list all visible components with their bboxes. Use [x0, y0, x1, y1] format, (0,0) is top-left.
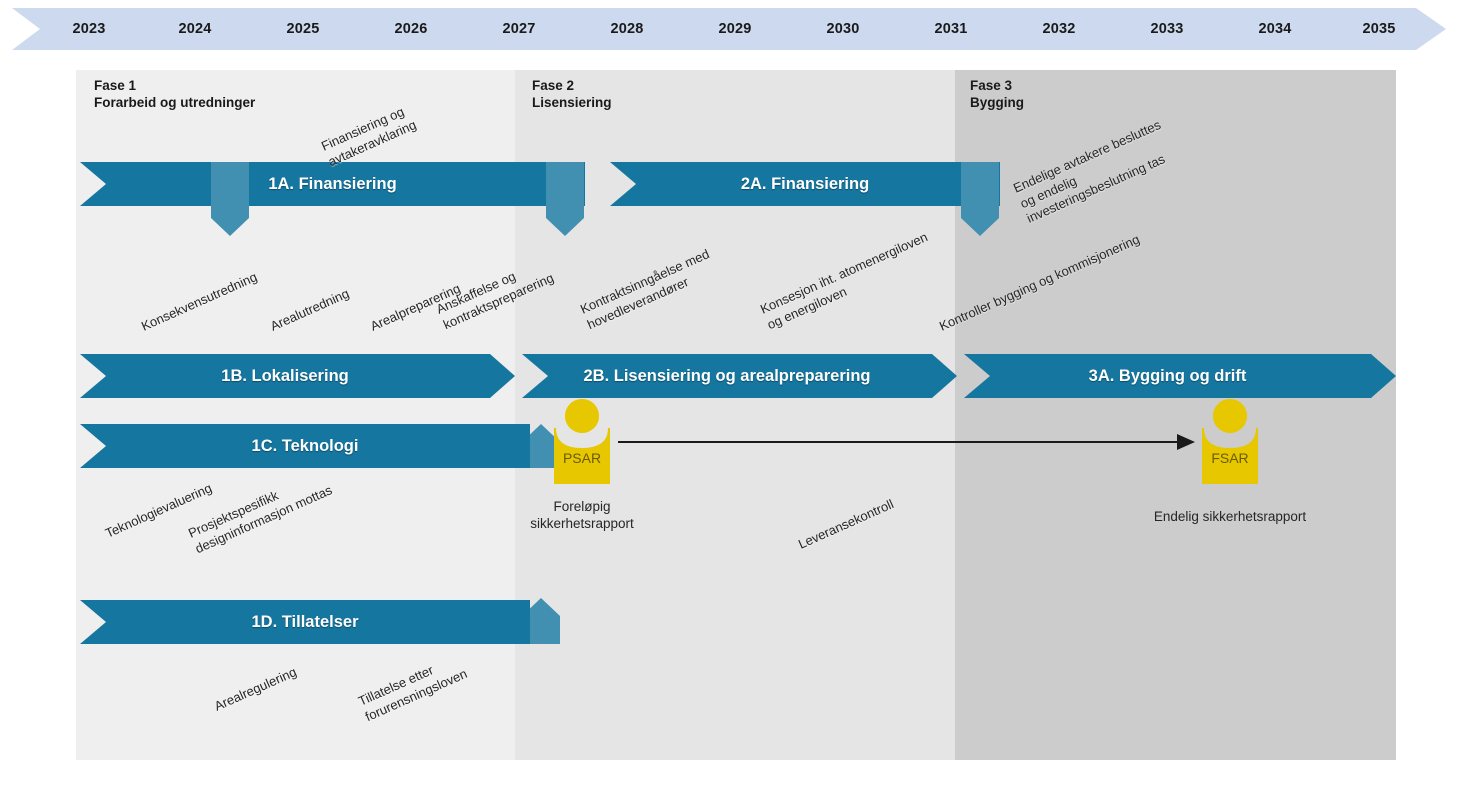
phase-3-line1: Fase 3: [970, 77, 1024, 94]
phase-title-3: Fase 3 Bygging: [970, 77, 1024, 111]
bar-3a-bygging[interactable]: 3A. Bygging og drift: [964, 354, 1396, 398]
phase-title-2: Fase 2 Lisensiering: [532, 77, 612, 111]
phase-3-line2: Bygging: [970, 94, 1024, 111]
milestone-fsar-tag: FSAR: [1192, 450, 1268, 466]
bar-2b-lisensiering[interactable]: 2B. Lisensiering og arealpreparering: [522, 354, 957, 398]
year-label-2031: 2031: [896, 8, 1006, 50]
year-label-2034: 2034: [1220, 8, 1330, 50]
year-label-2032: 2032: [1004, 8, 1114, 50]
milestone-psar-caption: Foreløpig sikkerhetsrapport: [512, 498, 652, 532]
year-ribbon: 2023 2024 2025 2026 2027 2028 2029 2030 …: [12, 8, 1446, 50]
phase-1-line2: Forarbeid og utredninger: [94, 94, 255, 111]
bar-1c-teknologi[interactable]: 1C. Teknologi: [80, 424, 560, 468]
year-label-2030: 2030: [788, 8, 898, 50]
milestone-psar-tag: PSAR: [544, 450, 620, 466]
year-label-2027: 2027: [464, 8, 574, 50]
phase-2-line1: Fase 2: [532, 77, 612, 94]
year-label-2023: 2023: [34, 8, 144, 50]
year-label-2026: 2026: [356, 8, 466, 50]
year-label-2025: 2025: [248, 8, 358, 50]
bar-2a-finansiering[interactable]: 2A. Finansiering: [610, 162, 1000, 206]
year-label-2028: 2028: [572, 8, 682, 50]
year-label-2024: 2024: [140, 8, 250, 50]
phase-1-line1: Fase 1: [94, 77, 255, 94]
phase-title-1: Fase 1 Forarbeid og utredninger: [94, 77, 255, 111]
year-label-2029: 2029: [680, 8, 790, 50]
phase-2-line2: Lisensiering: [532, 94, 612, 111]
bar-1d-tillatelser[interactable]: 1D. Tillatelser: [80, 600, 560, 644]
year-label-2035: 2035: [1324, 8, 1434, 50]
bar-1b-lokalisering[interactable]: 1B. Lokalisering: [80, 354, 515, 398]
phase-band-3: [955, 70, 1396, 760]
year-label-2033: 2033: [1112, 8, 1222, 50]
timeline-diagram: 2023 2024 2025 2026 2027 2028 2029 2030 …: [0, 0, 1458, 786]
milestone-connector-arrow: [618, 432, 1208, 452]
milestone-fsar-caption: Endelig sikkerhetsrapport: [1130, 508, 1330, 525]
milestone-psar[interactable]: PSAR: [544, 398, 620, 474]
